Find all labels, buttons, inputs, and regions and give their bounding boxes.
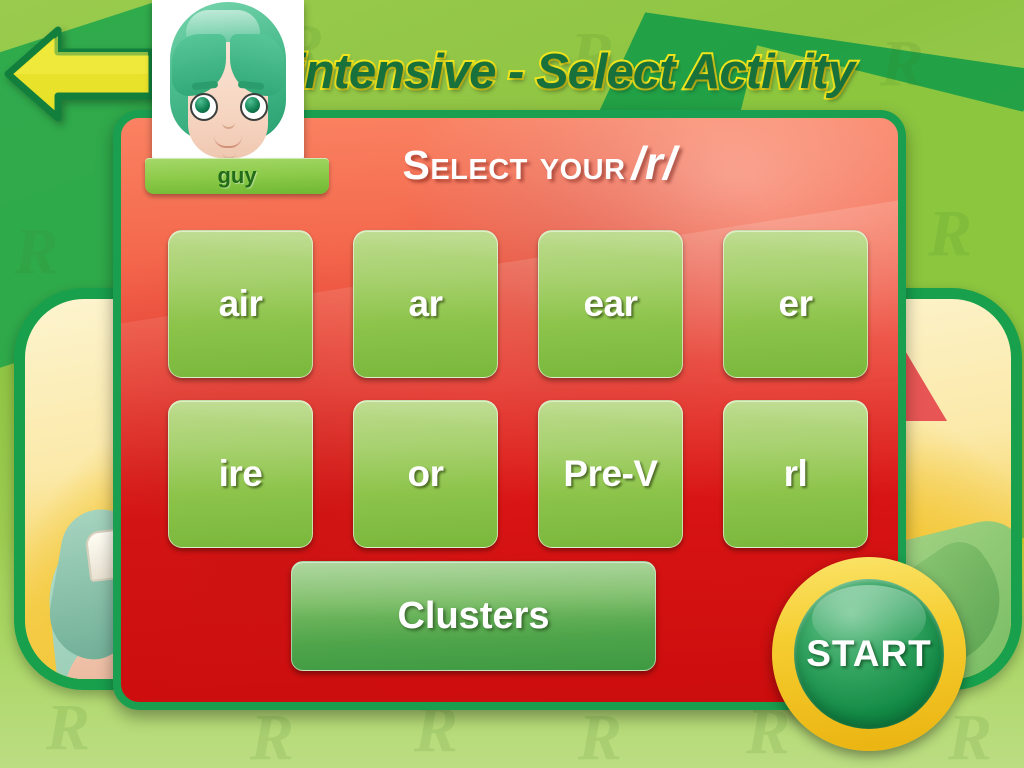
sound-button-or[interactable]: or (353, 400, 498, 548)
sound-button-er[interactable]: er (723, 230, 868, 378)
sound-button-label: or (408, 453, 444, 495)
panel-heading-prefix: Select your (402, 142, 625, 188)
sound-button-label: ire (219, 453, 263, 495)
sound-button-label: rl (784, 453, 808, 495)
watermark-r: R (928, 196, 972, 272)
sound-button-label: er (779, 283, 813, 325)
sound-button-ear[interactable]: ear (538, 230, 683, 378)
sound-button-ar[interactable]: ar (353, 230, 498, 378)
watermark-r: R (578, 700, 622, 768)
start-button[interactable]: START (772, 557, 966, 751)
sound-button-air[interactable]: air (168, 230, 313, 378)
sound-button-label: ear (583, 283, 637, 325)
avatar[interactable] (152, 0, 304, 168)
avatar-nameplate[interactable]: guy (145, 158, 329, 194)
panel-heading-sound: /r/ (632, 137, 677, 189)
clusters-button[interactable]: Clusters (291, 561, 656, 671)
watermark-r: R (948, 700, 992, 768)
clusters-label: Clusters (397, 595, 549, 638)
page-title: intensive - Select Activity (292, 44, 1012, 100)
watermark-r: R (250, 700, 294, 768)
watermark-r: R (14, 214, 58, 290)
app-screen: R R R R R R R R R R R R Fla at? (0, 0, 1024, 768)
avatar-pupil-right (245, 97, 260, 113)
sound-button-label: air (219, 283, 263, 325)
start-label: START (806, 633, 932, 675)
avatar-pupil-left (195, 97, 210, 113)
sound-button-label: ar (409, 283, 443, 325)
start-button-core: START (794, 579, 944, 729)
sound-button-ire[interactable]: ire (168, 400, 313, 548)
sound-button-pre-v[interactable]: Pre-V (538, 400, 683, 548)
sound-button-label: Pre-V (563, 453, 657, 495)
sound-button-rl[interactable]: rl (723, 400, 868, 548)
sound-grid: air ar ear er ire or Pre-V rl (168, 230, 868, 548)
avatar-name: guy (217, 163, 256, 189)
watermark-r: R (46, 690, 90, 766)
